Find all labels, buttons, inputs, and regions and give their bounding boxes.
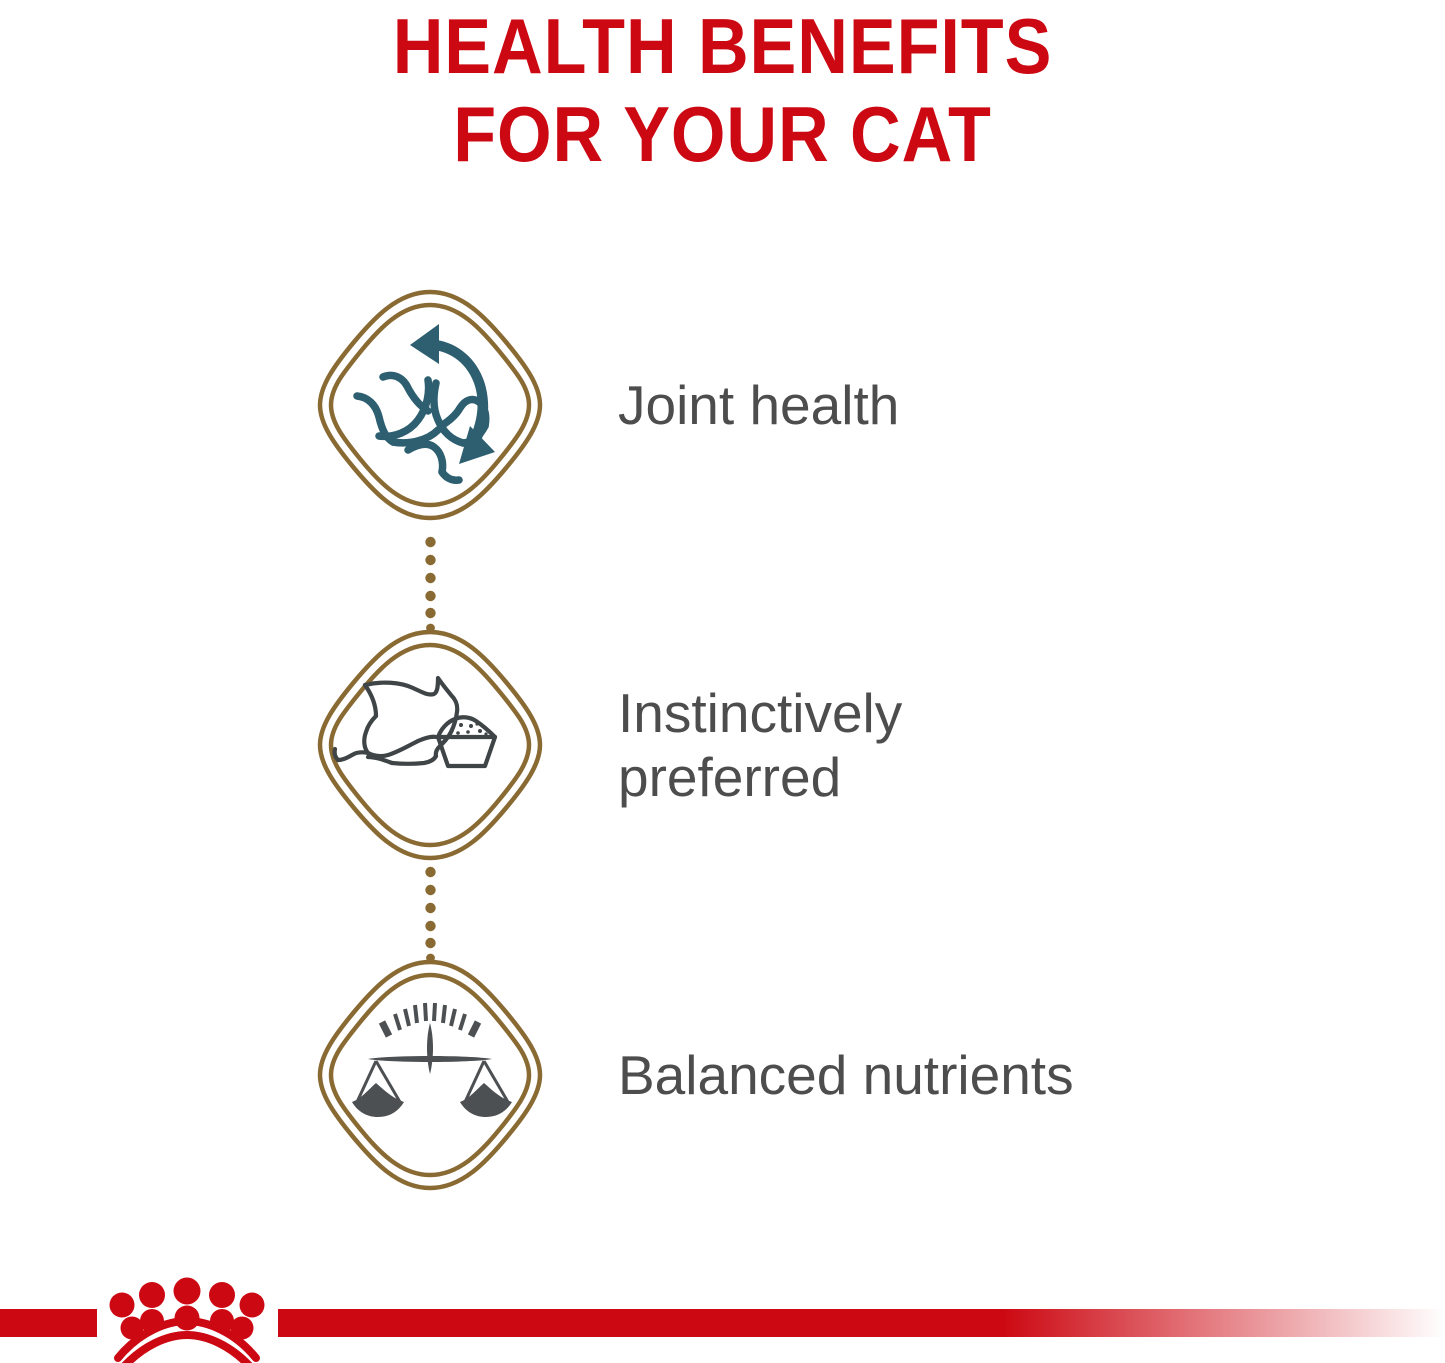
dotted-connector [424, 536, 437, 632]
benefit-label: Joint health [618, 373, 899, 437]
footer-bar-right [278, 1309, 1445, 1337]
page-title-line-1: HEALTH BENEFITS [72, 2, 1373, 90]
benefit-label: Balanced nutrients [618, 1043, 1074, 1107]
dotted-connector [424, 866, 437, 962]
benefit-row: Joint health [0, 280, 1445, 530]
joint-flex-icon [310, 280, 550, 530]
brand-footer [0, 1263, 1445, 1363]
health-benefits-infographic: HEALTH BENEFITS FOR YOUR CAT [0, 0, 1445, 1363]
benefit-row: Instinctively preferred [0, 620, 1445, 870]
benefit-row: Balanced nutrients [0, 950, 1445, 1200]
benefit-label: Instinctively preferred [618, 681, 902, 809]
cat-eating-bowl-icon [310, 620, 550, 870]
page-title: HEALTH BENEFITS FOR YOUR CAT [0, 2, 1445, 178]
balance-scale-icon [310, 950, 550, 1200]
footer-bar-left [0, 1309, 97, 1337]
crown-dots [110, 1278, 265, 1340]
page-title-line-2: FOR YOUR CAT [72, 90, 1373, 178]
